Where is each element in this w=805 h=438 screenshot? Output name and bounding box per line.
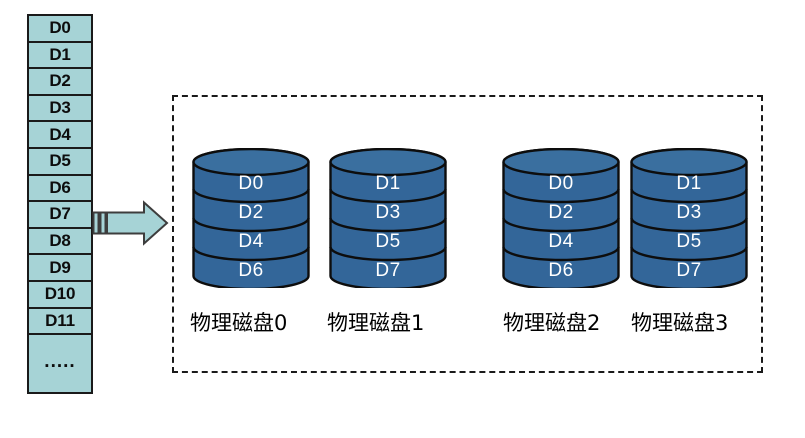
logical-block-cell: D7 (29, 202, 91, 229)
logical-block-cell: D4 (29, 122, 91, 149)
logical-block-cell: D3 (29, 96, 91, 123)
logical-block-ellipsis-cell: ..... (29, 335, 91, 392)
logical-data-blocks: D0 D1 D2 D3 D4 D5 D6 D7 D8 D9 D10 D11 ..… (27, 14, 93, 394)
physical-disk-3: D1 D3 D5 D7 (630, 148, 748, 288)
platter-label: D5 (630, 232, 748, 251)
logical-block-cell: D5 (29, 149, 91, 176)
platter-label: D6 (192, 261, 310, 280)
logical-block-cell: D2 (29, 69, 91, 96)
platter-label: D6 (502, 261, 620, 280)
logical-block-cell: D11 (29, 309, 91, 336)
platter-label: D3 (630, 203, 748, 222)
platter-label: D5 (329, 232, 447, 251)
logical-block-cell: D0 (29, 16, 91, 43)
physical-disk-1: D1 D3 D5 D7 (329, 148, 447, 288)
physical-disk-0: D0 D2 D4 D6 (192, 148, 310, 288)
logical-block-cell: D6 (29, 176, 91, 203)
platter-label: D7 (630, 261, 748, 280)
logical-block-cell: D1 (29, 43, 91, 70)
platter-label: D1 (630, 174, 748, 193)
physical-disk-2: D0 D2 D4 D6 (502, 148, 620, 288)
platter-label: D4 (502, 232, 620, 251)
platter-label: D1 (329, 174, 447, 193)
platter-label: D3 (329, 203, 447, 222)
physical-disk-2-caption: 物理磁盘2 (503, 307, 600, 337)
logical-block-cell: D10 (29, 282, 91, 309)
platter-label: D2 (192, 203, 310, 222)
logical-block-cell: D9 (29, 255, 91, 282)
flow-arrow-icon (92, 200, 170, 246)
platter-label: D4 (192, 232, 310, 251)
diagram-canvas: D0 D1 D2 D3 D4 D5 D6 D7 D8 D9 D10 D11 ..… (0, 0, 805, 438)
physical-disk-0-caption: 物理磁盘0 (190, 307, 287, 337)
physical-disk-3-caption: 物理磁盘3 (631, 307, 728, 337)
platter-label: D7 (329, 261, 447, 280)
platter-label: D0 (502, 174, 620, 193)
platter-label: D0 (192, 174, 310, 193)
logical-block-cell: D8 (29, 229, 91, 256)
physical-disk-1-caption: 物理磁盘1 (327, 307, 424, 337)
platter-label: D2 (502, 203, 620, 222)
